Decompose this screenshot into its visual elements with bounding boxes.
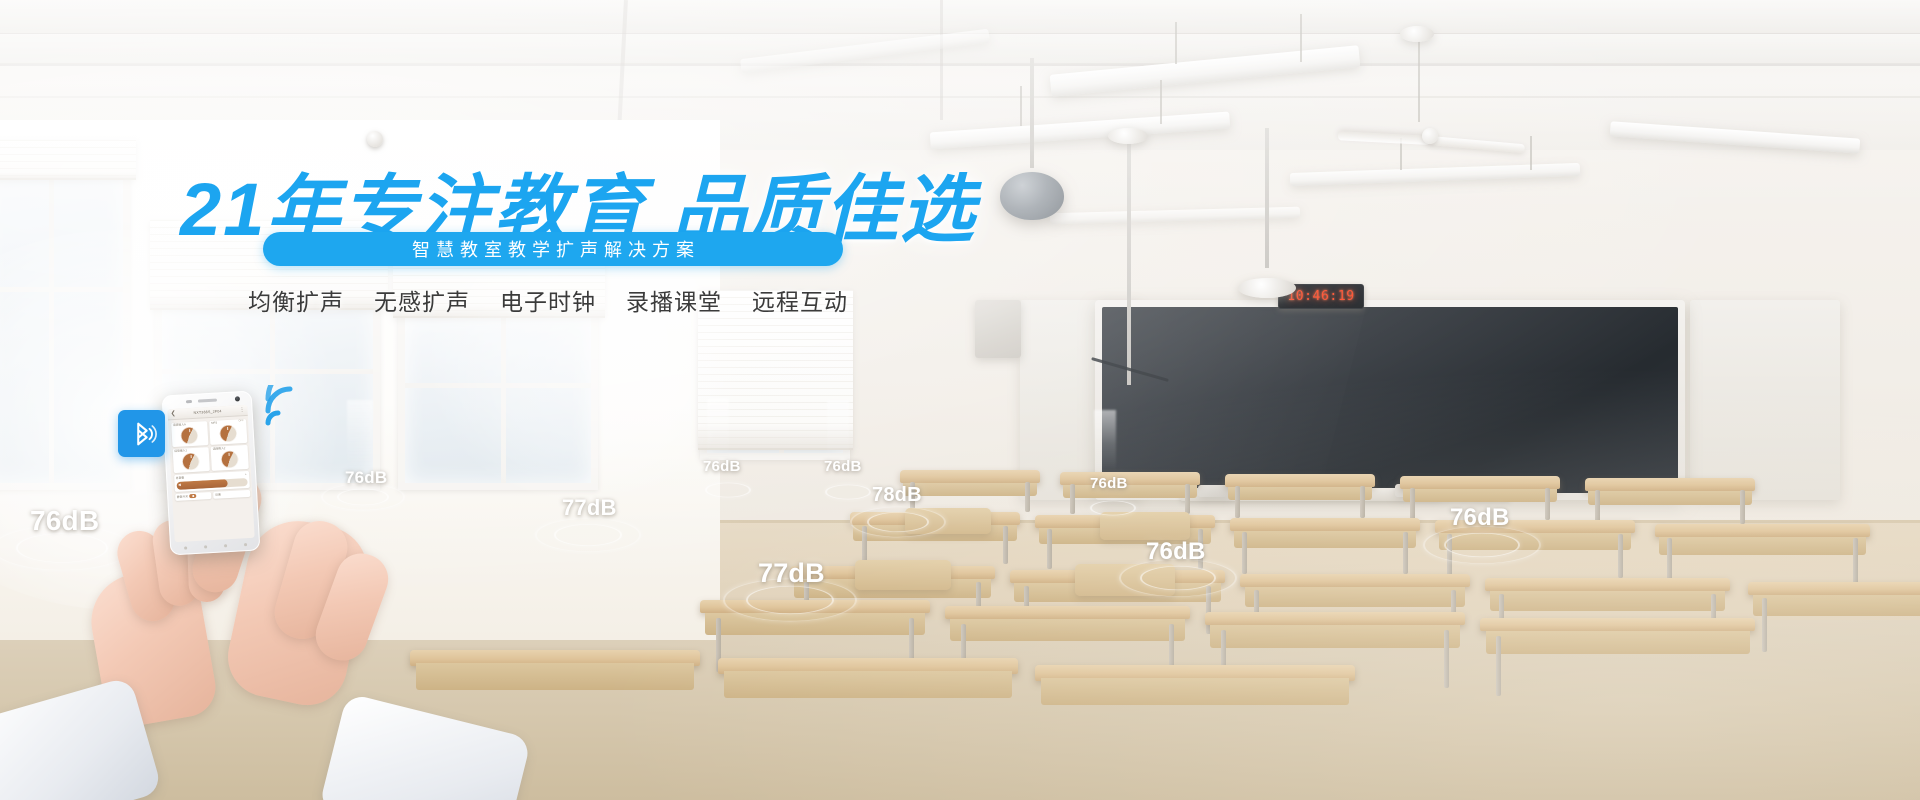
feature-item: 录播课堂: [626, 283, 722, 317]
db-level-marker: 76dB: [703, 458, 740, 475]
sound-ripple: [535, 518, 641, 552]
app-action-buttons: 静音开关设置: [175, 490, 250, 501]
sound-ripple: [825, 485, 871, 500]
app-action-button-label: 静音开关: [177, 495, 188, 498]
app-body: 话筒输入AMP3OFF话筒输入1话筒输入2 总音量 + ◀ 静音开关设置: [168, 416, 255, 542]
db-level-marker: 76dB: [824, 458, 861, 475]
db-level-marker: 77dB: [562, 495, 617, 521]
knob-control-card[interactable]: 话筒输入A: [171, 421, 209, 447]
volume-control-card: 总音量 + ◀: [174, 471, 250, 492]
knob-control-card[interactable]: 话筒输入2: [211, 445, 249, 471]
knob-control-card[interactable]: MP3OFF: [209, 418, 247, 444]
speaker-icon: ◀: [178, 484, 181, 488]
window-blind: [0, 140, 136, 180]
ceiling-fan: [1330, 118, 1530, 154]
sound-ripple: [1090, 501, 1136, 516]
student-desk: [1035, 665, 1355, 755]
app-action-button-label: 设置: [215, 493, 221, 496]
feature-list: 均衡扩声无感扩声电子时钟录播课堂远程互动: [248, 283, 848, 317]
knob-label: MP3: [211, 422, 217, 425]
rotary-knob[interactable]: [181, 426, 199, 444]
rotary-knob[interactable]: [221, 451, 239, 469]
ceiling-speaker-plate: [1238, 278, 1296, 298]
smart-blackboard: [1095, 300, 1685, 500]
knob-control-grid: 话筒输入AMP3OFF话筒输入1话筒输入2: [171, 418, 249, 473]
db-level-marker: 77dB: [758, 558, 825, 589]
knob-label: 话筒输入2: [213, 447, 226, 451]
volume-slider[interactable]: ◀: [176, 478, 247, 490]
window: [0, 160, 130, 490]
student-desk: [1480, 618, 1755, 696]
ceiling-mic-plate: [1108, 128, 1148, 144]
nav-dot[interactable]: [224, 544, 227, 547]
db-level-marker: 76dB: [1090, 475, 1127, 492]
db-level-marker: 76dB: [1450, 504, 1510, 532]
ceiling-speaker: [1000, 172, 1064, 220]
db-level-marker: 76dB: [1146, 538, 1206, 566]
db-level-marker: 78dB: [872, 484, 922, 507]
smartphone-device: ❮ NXT366S_2F04 ⋮ 话筒输入AMP3OFF话筒输入1话筒输入2 总…: [162, 391, 261, 556]
phone-screen: ❮ NXT366S_2F04 ⋮ 话筒输入AMP3OFF话筒输入1话筒输入2 总…: [167, 405, 254, 542]
nav-dot[interactable]: [204, 545, 207, 548]
student-desk: [1748, 582, 1920, 652]
sound-ripple: [850, 507, 946, 538]
subtitle-pill: 智慧教室教学扩声解决方案: [263, 232, 843, 266]
knob-badge: OFF: [238, 420, 243, 423]
student-desk: [1225, 474, 1375, 518]
subtitle-text: 智慧教室教学扩声解决方案: [406, 236, 700, 262]
sound-beam: [827, 400, 849, 460]
blackboard-right-wing: [1690, 300, 1840, 500]
app-device-name: NXT366S_2F04: [176, 408, 240, 416]
toggle-icon[interactable]: [189, 494, 196, 498]
wifi-signal-icon: [262, 385, 314, 427]
ceiling-mount-plate: [1400, 26, 1434, 42]
window: [398, 310, 598, 490]
feature-item: 均衡扩声: [248, 283, 344, 317]
wall-mounted-amplifier: [975, 300, 1021, 358]
sound-ripple: [705, 483, 751, 498]
volume-slider-fill: ◀: [176, 479, 227, 490]
app-action-button[interactable]: 静音开关: [175, 492, 212, 501]
db-level-marker: 76dB: [345, 468, 387, 488]
nav-dot[interactable]: [243, 543, 246, 546]
knob-label: 话筒输入1: [174, 450, 187, 454]
student-desk: [1655, 524, 1870, 584]
feature-item: 电子时钟: [500, 283, 596, 317]
sound-beam: [347, 400, 373, 470]
student-desk: [1585, 478, 1755, 524]
rotary-knob[interactable]: [182, 453, 200, 471]
knob-label: 话筒输入A: [173, 423, 186, 427]
app-action-button[interactable]: 设置: [213, 490, 250, 499]
student-desk: [1230, 518, 1420, 574]
nav-dot[interactable]: [184, 546, 187, 549]
volume-label: 总音量: [176, 477, 185, 480]
sound-beam: [1094, 410, 1116, 472]
plus-icon[interactable]: +: [245, 473, 247, 476]
knob-control-card[interactable]: 话筒输入1: [172, 447, 210, 473]
rotary-knob[interactable]: [219, 424, 237, 442]
phone-sensor: [186, 400, 192, 403]
feature-item: 远程互动: [752, 283, 848, 317]
sound-beam: [707, 398, 729, 460]
more-vertical-icon[interactable]: ⋮: [239, 408, 244, 413]
feature-item: 无感扩声: [374, 283, 470, 317]
student-desk: [718, 658, 1018, 748]
bluetooth-icon: [118, 410, 165, 457]
clock-time: 10:46:19: [1287, 289, 1354, 304]
